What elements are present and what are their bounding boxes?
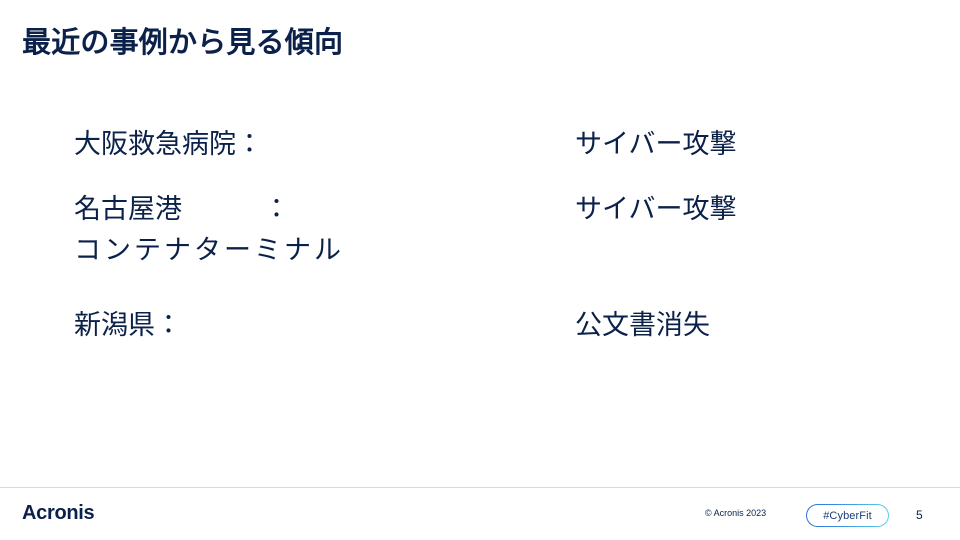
cyberfit-badge-inner: #CyberFit (807, 505, 887, 525)
case-incident: サイバー攻撃 (574, 124, 904, 165)
copyright-text: © Acronis 2023 (705, 508, 766, 519)
case-list: 大阪救急病院： サイバー攻撃 名古屋港 ： コンテナターミナル サイバー攻撃 新… (74, 124, 904, 346)
case-organization-line1: 大阪救急病院： (74, 124, 574, 165)
case-organization-line1: 新潟県： (74, 305, 574, 346)
cyberfit-badge: #CyberFit (806, 504, 889, 527)
list-item: 名古屋港 ： コンテナターミナル サイバー攻撃 (74, 189, 904, 271)
page-title: 最近の事例から見る傾向 (22, 24, 343, 62)
slide-canvas: 最近の事例から見る傾向 大阪救急病院： サイバー攻撃 名古屋港 ： コンテナター… (0, 0, 960, 540)
case-organization-line1: 名古屋港 ： (74, 189, 574, 230)
case-organization: 名古屋港 ： コンテナターミナル (74, 189, 574, 271)
cyberfit-badge-label: #CyberFit (823, 510, 872, 522)
page-number: 5 (916, 508, 923, 522)
case-organization: 新潟県： (74, 305, 574, 346)
case-incident: 公文書消失 (574, 305, 904, 346)
list-item: 大阪救急病院： サイバー攻撃 (74, 124, 904, 165)
list-item: 新潟県： 公文書消失 (74, 305, 904, 346)
case-organization: 大阪救急病院： (74, 124, 574, 165)
case-incident: サイバー攻撃 (574, 189, 904, 230)
acronis-logo: Acronis (22, 502, 94, 524)
case-organization-line2: コンテナターミナル (74, 230, 574, 271)
